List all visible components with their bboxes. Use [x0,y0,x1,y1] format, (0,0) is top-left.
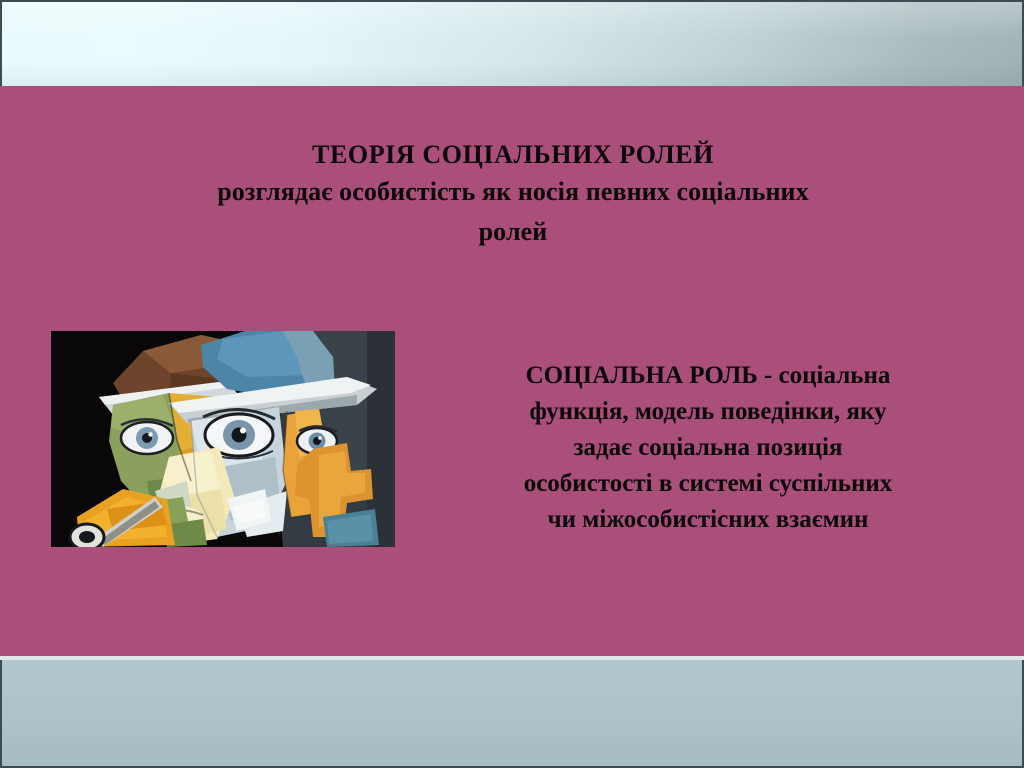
presentation-slide: ТЕОРІЯ СОЦІАЛЬНИХ РОЛЕЙ розглядає особис… [0,0,1024,768]
definition-line-3: задає соціальна позиція [443,430,973,466]
top-band-sheen [2,2,1022,86]
definition-line-4: особистості в системі суспільних [443,466,973,502]
top-decorative-band [0,0,1024,86]
definition-text-block: СОЦІАЛЬНА РОЛЬ - соціальна функція, моде… [443,358,973,538]
page-title: ТЕОРІЯ СОЦІАЛЬНИХ РОЛЕЙ [118,138,908,172]
slide-title-block: ТЕОРІЯ СОЦІАЛЬНИХ РОЛЕЙ розглядає особис… [118,138,908,252]
title-subheading-line-1: розглядає особистість як носія певних со… [118,172,908,212]
cubist-portrait-svg [51,331,395,547]
title-subheading-line-2: ролей [118,212,908,252]
definition-line-5: чи міжособистісних взаємин [443,502,973,538]
definition-line-2: функція, модель поведінки, яку [443,394,973,430]
cubist-portrait-image [51,331,395,547]
definition-line-1: СОЦІАЛЬНА РОЛЬ - соціальна [443,358,973,394]
bottom-decorative-band [0,660,1024,768]
